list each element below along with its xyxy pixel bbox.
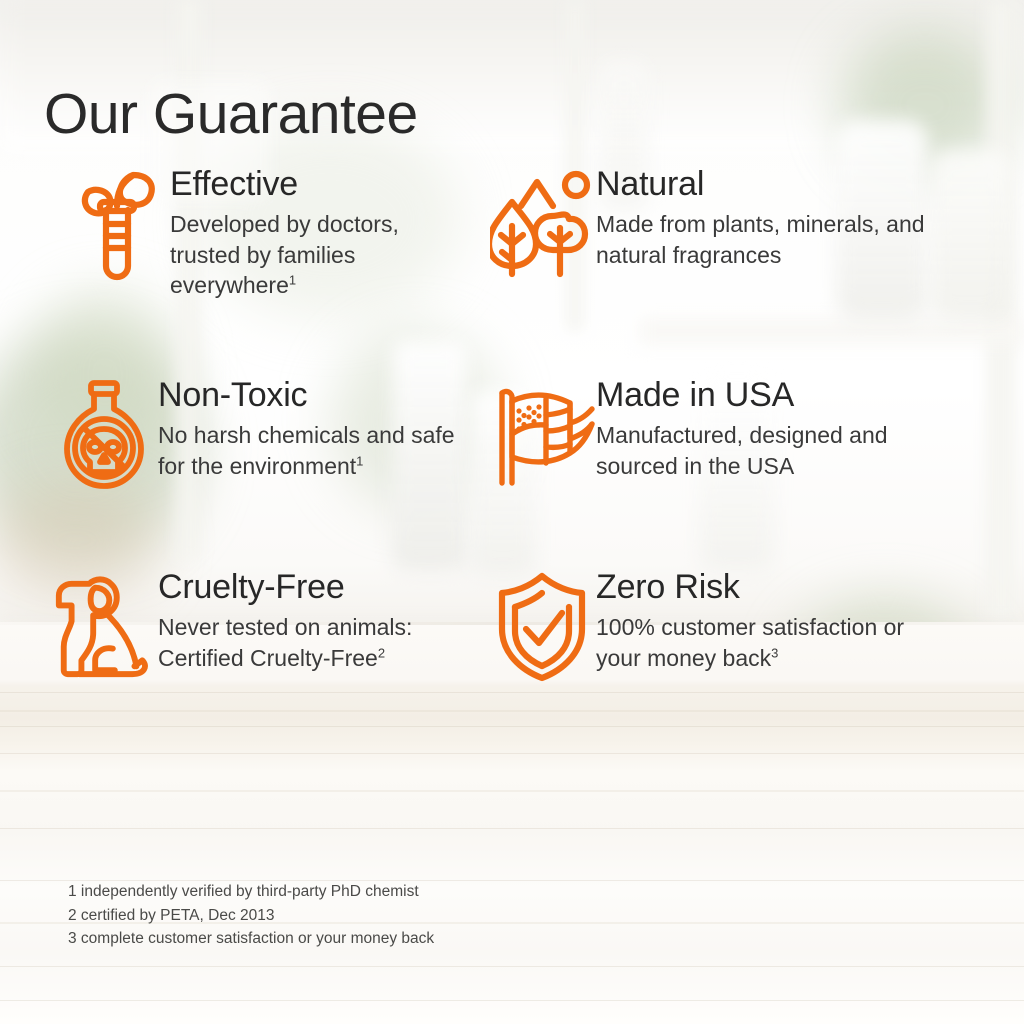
feature-card-made-in-usa: Made in USA Manufactured, designed and s… <box>470 375 960 495</box>
feature-title: Made in USA <box>596 377 926 414</box>
footnote-1: 1 independently verified by third-party … <box>68 880 434 904</box>
usa-flag-icon <box>488 375 596 495</box>
feature-description-text: 100% customer satisfaction or your money… <box>596 614 904 671</box>
feature-description: 100% customer satisfaction or your money… <box>596 612 926 674</box>
footnote-marker: 1 <box>356 453 363 468</box>
feature-text: Non-Toxic No harsh chemicals and safe fo… <box>158 375 470 481</box>
features-row: Cruelty-Free Never tested on animals: Ce… <box>0 567 1024 687</box>
feature-title: Natural <box>596 166 926 203</box>
footnote-3: 3 complete customer satisfaction or your… <box>68 927 434 951</box>
feature-description: Never tested on animals: Certified Cruel… <box>158 612 470 674</box>
footnotes: 1 independently verified by third-party … <box>68 880 434 951</box>
feature-description: No harsh chemicals and safe for the envi… <box>158 420 470 482</box>
feature-description-text: Never tested on animals: Certified Cruel… <box>158 614 412 671</box>
shield-check-icon <box>488 567 596 687</box>
footnote-marker: 2 <box>378 645 385 660</box>
feature-title: Effective <box>170 166 470 203</box>
sitting-dog-icon <box>50 567 158 687</box>
features-row: Non-Toxic No harsh chemicals and safe fo… <box>0 375 1024 495</box>
feature-description: Made from plants, minerals, and natural … <box>596 209 926 271</box>
test-tube-leaf-icon <box>62 164 170 284</box>
footnote-2: 2 certified by PETA, Dec 2013 <box>68 904 434 928</box>
feature-card-cruelty-free: Cruelty-Free Never tested on animals: Ce… <box>0 567 470 687</box>
page-title: Our Guarantee <box>44 86 418 143</box>
feature-title: Cruelty-Free <box>158 569 470 606</box>
feature-text: Made in USA Manufactured, designed and s… <box>596 375 926 481</box>
feature-description: Manufactured, designed and sourced in th… <box>596 420 926 482</box>
features-row: Effective Developed by doctors, trusted … <box>0 164 1024 301</box>
poison-bottle-skull-prohibited-icon <box>50 375 158 495</box>
features-grid: Effective Developed by doctors, trusted … <box>0 164 1024 687</box>
feature-text: Effective Developed by doctors, trusted … <box>170 164 470 301</box>
feature-card-non-toxic: Non-Toxic No harsh chemicals and safe fo… <box>0 375 470 495</box>
feature-description-text: No harsh chemicals and safe for the envi… <box>158 422 455 479</box>
feature-title: Zero Risk <box>596 569 926 606</box>
feature-card-effective: Effective Developed by doctors, trusted … <box>0 164 470 301</box>
feature-description: Developed by doctors, trusted by familie… <box>170 209 470 301</box>
feature-description-text: Made from plants, minerals, and natural … <box>596 211 925 268</box>
guarantee-graphic: Our Guarantee <box>0 0 1024 1024</box>
feature-text: Natural Made from plants, minerals, and … <box>596 164 926 270</box>
feature-text: Cruelty-Free Never tested on animals: Ce… <box>158 567 470 673</box>
content-layer: Our Guarantee <box>0 0 1024 1024</box>
feature-description-text: Developed by doctors, trusted by familie… <box>170 211 399 299</box>
trees-nature-icon <box>488 164 596 284</box>
feature-description-text: Manufactured, designed and sourced in th… <box>596 422 888 479</box>
footnote-marker: 3 <box>771 645 778 660</box>
feature-card-zero-risk: Zero Risk 100% customer satisfaction or … <box>470 567 960 687</box>
feature-card-natural: Natural Made from plants, minerals, and … <box>470 164 960 301</box>
feature-title: Non-Toxic <box>158 377 470 414</box>
feature-text: Zero Risk 100% customer satisfaction or … <box>596 567 926 673</box>
footnote-marker: 1 <box>289 273 296 288</box>
